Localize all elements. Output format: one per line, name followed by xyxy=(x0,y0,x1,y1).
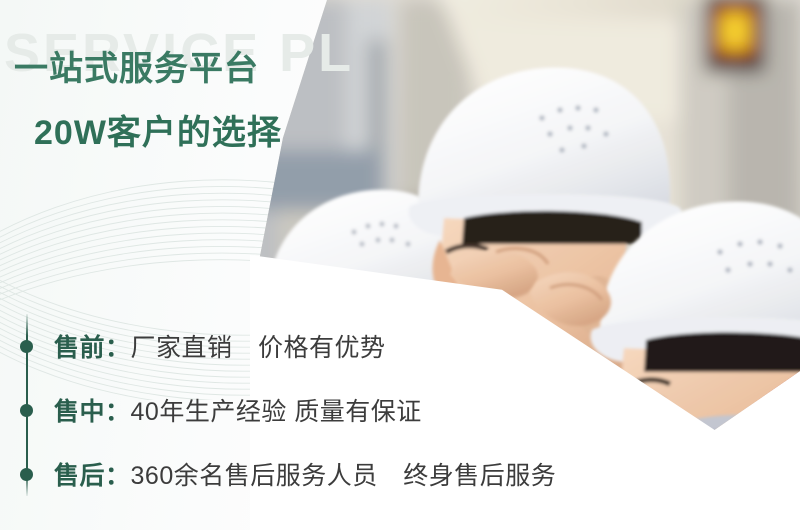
service-bullet-list: 售前： 厂家直销 价格有优势 售中： 40年生产经验 质量有保证 售后： 360… xyxy=(0,310,720,510)
headline-block: SERVICE PL 一站式服务平台 20W客户的选择 xyxy=(0,24,480,154)
bullet-dot-icon xyxy=(20,468,33,481)
page-title: 一站式服务平台 xyxy=(14,52,259,86)
bullet-dot-icon xyxy=(20,340,33,353)
bullet-dot-icon xyxy=(20,404,33,417)
bullet-label: 售前： xyxy=(54,328,131,364)
bullet-text: 360余名售后服务人员 终身售后服务 xyxy=(131,456,557,492)
bullet-label: 售中： xyxy=(54,392,131,428)
bullet-text: 厂家直销 价格有优势 xyxy=(131,328,386,364)
service-platform-banner: SERVICE PL 一站式服务平台 20W客户的选择 售前： 厂家直销 价格有… xyxy=(0,0,800,530)
bullet-text: 40年生产经验 质量有保证 xyxy=(131,392,422,428)
list-item: 售前： 厂家直销 价格有优势 xyxy=(0,324,386,368)
list-item: 售后： 360余名售后服务人员 终身售后服务 xyxy=(0,452,556,496)
page-subtitle: 20W客户的选择 xyxy=(34,116,282,150)
list-item: 售中： 40年生产经验 质量有保证 xyxy=(0,388,422,432)
bullet-label: 售后： xyxy=(54,456,131,492)
